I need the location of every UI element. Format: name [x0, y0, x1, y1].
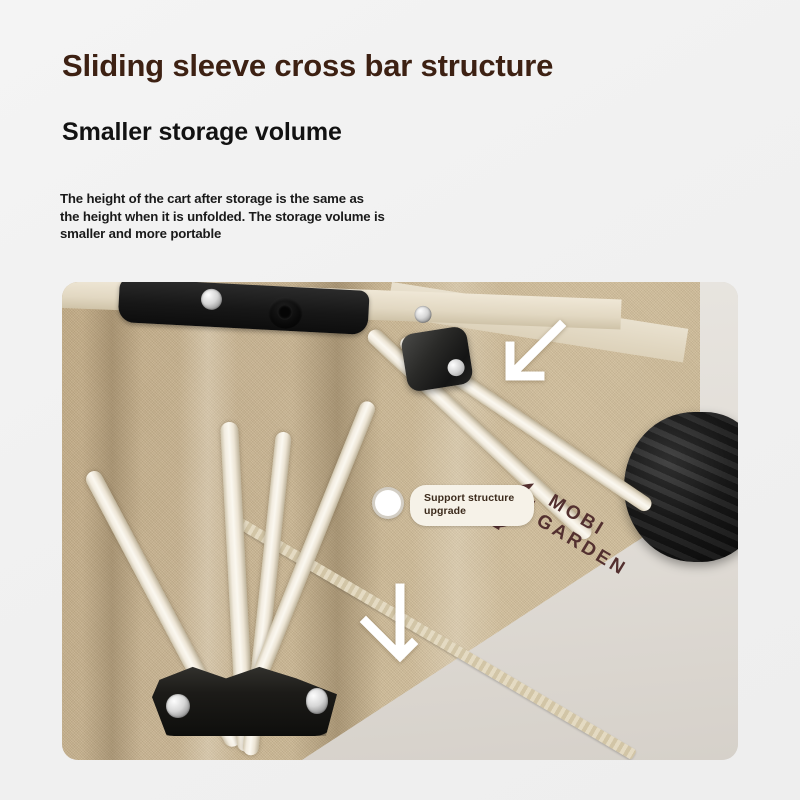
- arrow-down-left-icon: [492, 318, 570, 396]
- page-title: Sliding sleeve cross bar structure: [62, 48, 553, 84]
- product-feature-page: Sliding sleeve cross bar structure Small…: [0, 0, 800, 800]
- socket-icon: [268, 296, 304, 330]
- page-subtitle: Smaller storage volume: [62, 118, 342, 147]
- callout-marker-dot: [372, 487, 404, 519]
- brand-name: MOBI GARDEN: [532, 490, 643, 582]
- description-text: The height of the cart after storage is …: [60, 190, 460, 243]
- arrow-down-icon: [350, 582, 428, 668]
- rivet-icon: [166, 694, 190, 718]
- callout-label: Support structure upgrade: [410, 485, 534, 526]
- callout-label-line-2: upgrade: [424, 505, 514, 518]
- description-line-2: the height when it is unfolded. The stor…: [60, 208, 460, 226]
- rivet-icon: [306, 688, 328, 714]
- product-photo: MOBI GARDEN Support structure upgrade: [62, 282, 738, 760]
- callout-label-line-1: Support structure: [424, 492, 514, 505]
- description-line-3: smaller and more portable: [60, 225, 460, 243]
- description-line-1: The height of the cart after storage is …: [60, 190, 460, 208]
- screw-icon: [200, 288, 222, 310]
- sliding-sleeve-collar: [400, 325, 474, 393]
